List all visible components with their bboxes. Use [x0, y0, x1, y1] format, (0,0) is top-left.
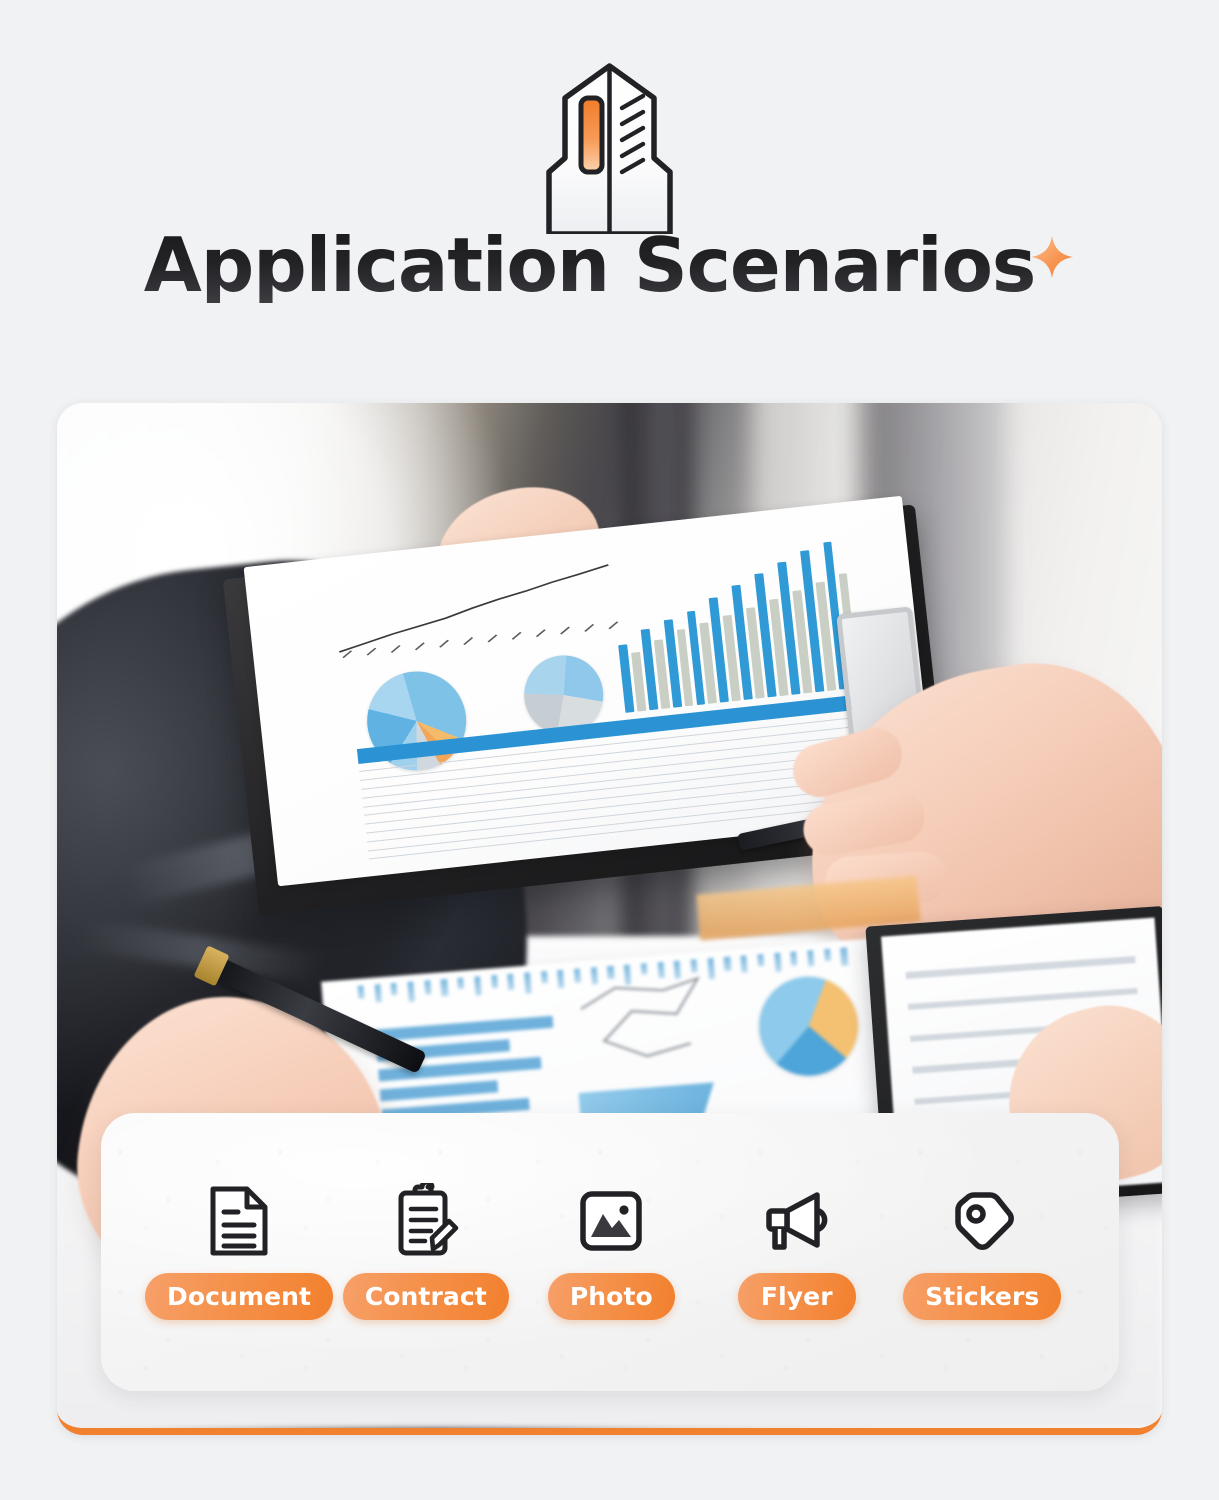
- document-icon: [203, 1185, 275, 1257]
- megaphone-icon: [761, 1185, 833, 1257]
- badge-label-contract[interactable]: Contract: [343, 1273, 509, 1320]
- photo-icon: [575, 1185, 647, 1257]
- badge-item-photo[interactable]: Photo: [519, 1185, 704, 1320]
- photo-desk-network-chart: [570, 970, 725, 1073]
- page-header: Application Scenarios: [0, 0, 1219, 392]
- title-row: Application Scenarios: [144, 228, 1076, 303]
- badge-item-document[interactable]: Document: [145, 1185, 333, 1320]
- sparkle-icon: [1029, 234, 1075, 280]
- photo-desk-pie-1: [756, 972, 862, 1078]
- badge-item-contract[interactable]: Contract: [333, 1185, 518, 1320]
- badge-item-stickers[interactable]: Stickers: [890, 1185, 1075, 1320]
- badge-label-document[interactable]: Document: [145, 1273, 333, 1320]
- tag-icon: [946, 1185, 1018, 1257]
- badge-label-flyer[interactable]: Flyer: [738, 1273, 856, 1320]
- contract-icon: [390, 1185, 462, 1257]
- page-title: Application Scenarios: [144, 228, 1036, 303]
- badge-item-flyer[interactable]: Flyer: [704, 1185, 889, 1320]
- badges-row: Document: [101, 1113, 1119, 1391]
- badge-label-stickers[interactable]: Stickers: [903, 1273, 1061, 1320]
- application-scenarios-page: Application Scenarios: [0, 0, 1219, 1500]
- building-icon: [502, 62, 717, 234]
- scenario-badges-panel: Document: [101, 1113, 1119, 1391]
- scenario-photo-card: Document: [57, 403, 1162, 1435]
- photo-line-chart: [326, 558, 636, 661]
- badge-label-photo[interactable]: Photo: [548, 1273, 675, 1320]
